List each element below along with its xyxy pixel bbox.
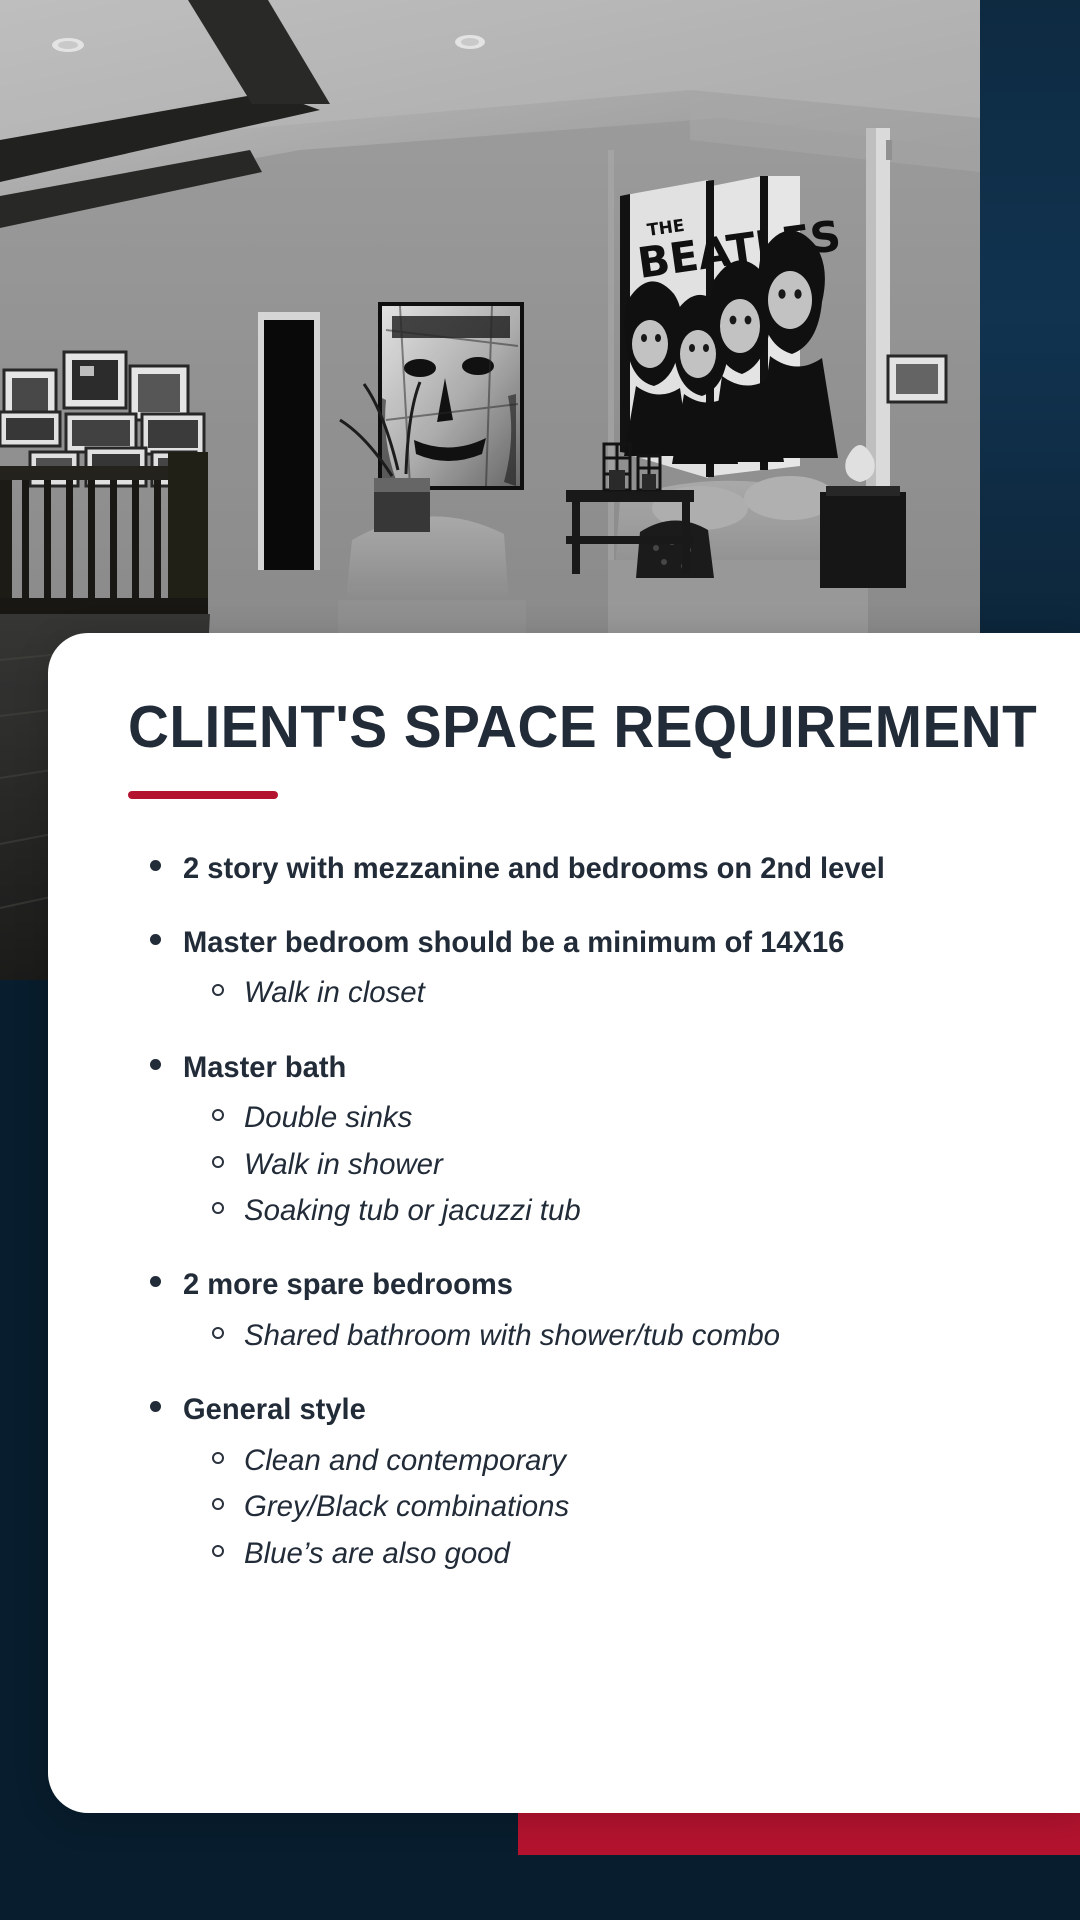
requirement-group: 2 story with mezzanine and bedrooms on 2…	[150, 849, 1036, 889]
list-item: Master bath	[150, 1048, 1036, 1088]
sub-requirement-text: Grey/Black combinations	[244, 1486, 569, 1527]
sub-list-item: Grey/Black combinations	[212, 1486, 1036, 1527]
bullet-circle-icon	[212, 1545, 224, 1557]
sub-requirement-text: Walk in shower	[244, 1144, 443, 1185]
requirement-text: Master bath	[183, 1048, 346, 1088]
requirement-text: General style	[183, 1390, 366, 1430]
sub-list-item: Shared bathroom with shower/tub combo	[212, 1315, 1036, 1356]
bullet-dot-icon	[150, 1401, 161, 1412]
requirement-text: Master bedroom should be a minimum of 14…	[183, 923, 844, 963]
sub-requirement-text: Walk in closet	[244, 972, 425, 1013]
requirement-group: Master bath Double sinks Walk in shower …	[150, 1048, 1036, 1232]
list-item: 2 story with mezzanine and bedrooms on 2…	[150, 849, 1036, 889]
sub-requirements-list: Walk in closet	[150, 972, 1036, 1013]
sub-requirement-text: Shared bathroom with shower/tub combo	[244, 1315, 780, 1356]
sub-list-item: Soaking tub or jacuzzi tub	[212, 1190, 1036, 1231]
requirement-text: 2 story with mezzanine and bedrooms on 2…	[183, 849, 885, 889]
sub-list-item: Clean and contemporary	[212, 1440, 1036, 1481]
bullet-circle-icon	[212, 1327, 224, 1339]
bullet-dot-icon	[150, 1059, 161, 1070]
page-title: CLIENT'S SPACE REQUIREMENT	[128, 697, 1000, 759]
sub-requirements-list: Shared bathroom with shower/tub combo	[150, 1315, 1036, 1356]
sub-requirements-list: Double sinks Walk in shower Soaking tub …	[150, 1097, 1036, 1231]
sub-requirement-text: Blue’s are also good	[244, 1533, 510, 1574]
sub-requirement-text: Clean and contemporary	[244, 1440, 566, 1481]
sub-list-item: Walk in closet	[212, 972, 1036, 1013]
bullet-circle-icon	[212, 1452, 224, 1464]
sub-list-item: Walk in shower	[212, 1144, 1036, 1185]
list-item: 2 more spare bedrooms	[150, 1265, 1036, 1305]
requirement-group: 2 more spare bedrooms Shared bathroom wi…	[150, 1265, 1036, 1356]
bullet-circle-icon	[212, 1202, 224, 1214]
title-underline-accent	[128, 791, 278, 799]
bullet-circle-icon	[212, 1498, 224, 1510]
poster-page: THE BEATLES	[0, 0, 1080, 1920]
right-navy-strip	[980, 0, 1080, 700]
sub-requirements-list: Clean and contemporary Grey/Black combin…	[150, 1440, 1036, 1574]
requirement-group: General style Clean and contemporary Gre…	[150, 1390, 1036, 1574]
sub-requirement-text: Double sinks	[244, 1097, 412, 1138]
bullet-circle-icon	[212, 1109, 224, 1121]
sub-list-item: Double sinks	[212, 1097, 1036, 1138]
bullet-dot-icon	[150, 934, 161, 945]
content-card: CLIENT'S SPACE REQUIREMENT 2 story with …	[48, 633, 1080, 1813]
requirement-text: 2 more spare bedrooms	[183, 1265, 513, 1305]
requirement-group: Master bedroom should be a minimum of 14…	[150, 923, 1036, 1014]
bullet-circle-icon	[212, 1156, 224, 1168]
list-item: General style	[150, 1390, 1036, 1430]
bullet-circle-icon	[212, 984, 224, 996]
sub-requirement-text: Soaking tub or jacuzzi tub	[244, 1190, 581, 1231]
bottom-accent-bar	[518, 1813, 1080, 1855]
requirements-list: 2 story with mezzanine and bedrooms on 2…	[128, 849, 1036, 1574]
list-item: Master bedroom should be a minimum of 14…	[150, 923, 1036, 963]
sub-list-item: Blue’s are also good	[212, 1533, 1036, 1574]
bullet-dot-icon	[150, 860, 161, 871]
bullet-dot-icon	[150, 1276, 161, 1287]
